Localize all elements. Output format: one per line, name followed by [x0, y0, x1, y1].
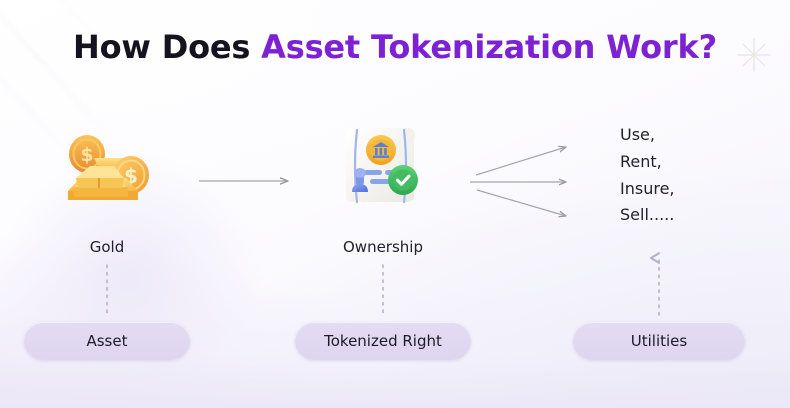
utility-item-rent: Rent, [620, 154, 675, 171]
utilities-list: Use, Rent, Insure, Sell..... [620, 127, 675, 224]
pill-asset-label: Asset [86, 332, 127, 350]
svg-text:$: $ [80, 144, 93, 166]
pill-asset[interactable]: Asset [24, 322, 190, 360]
utility-item-insure: Insure, [620, 181, 675, 198]
node-label-gold: Gold [0, 238, 214, 256]
title-dark-segment: How Does [73, 28, 261, 66]
sparkle-star-icon [735, 36, 773, 74]
ownership-certificate-icon [334, 118, 430, 214]
gold-bars-coins-icon: $ $ [58, 128, 156, 210]
arrow-ownership-to-use [476, 147, 566, 175]
pill-tokenized-right-label: Tokenized Right [324, 332, 442, 350]
title-accent-segment: Asset Tokenization Work? [261, 28, 717, 66]
node-label-ownership: Ownership [276, 238, 490, 256]
utility-item-use: Use, [620, 127, 675, 144]
slide-canvas: How Does Asset Tokenization Work? [0, 0, 790, 408]
background-sheen [0, 0, 115, 143]
page-title: How Does Asset Tokenization Work? [0, 28, 790, 66]
pill-utilities[interactable]: Utilities [573, 322, 745, 360]
pill-tokenized-right[interactable]: Tokenized Right [295, 322, 471, 360]
arrow-ownership-to-sell [477, 190, 566, 216]
utility-item-sell: Sell..... [620, 207, 675, 224]
pill-utilities-label: Utilities [631, 332, 687, 350]
